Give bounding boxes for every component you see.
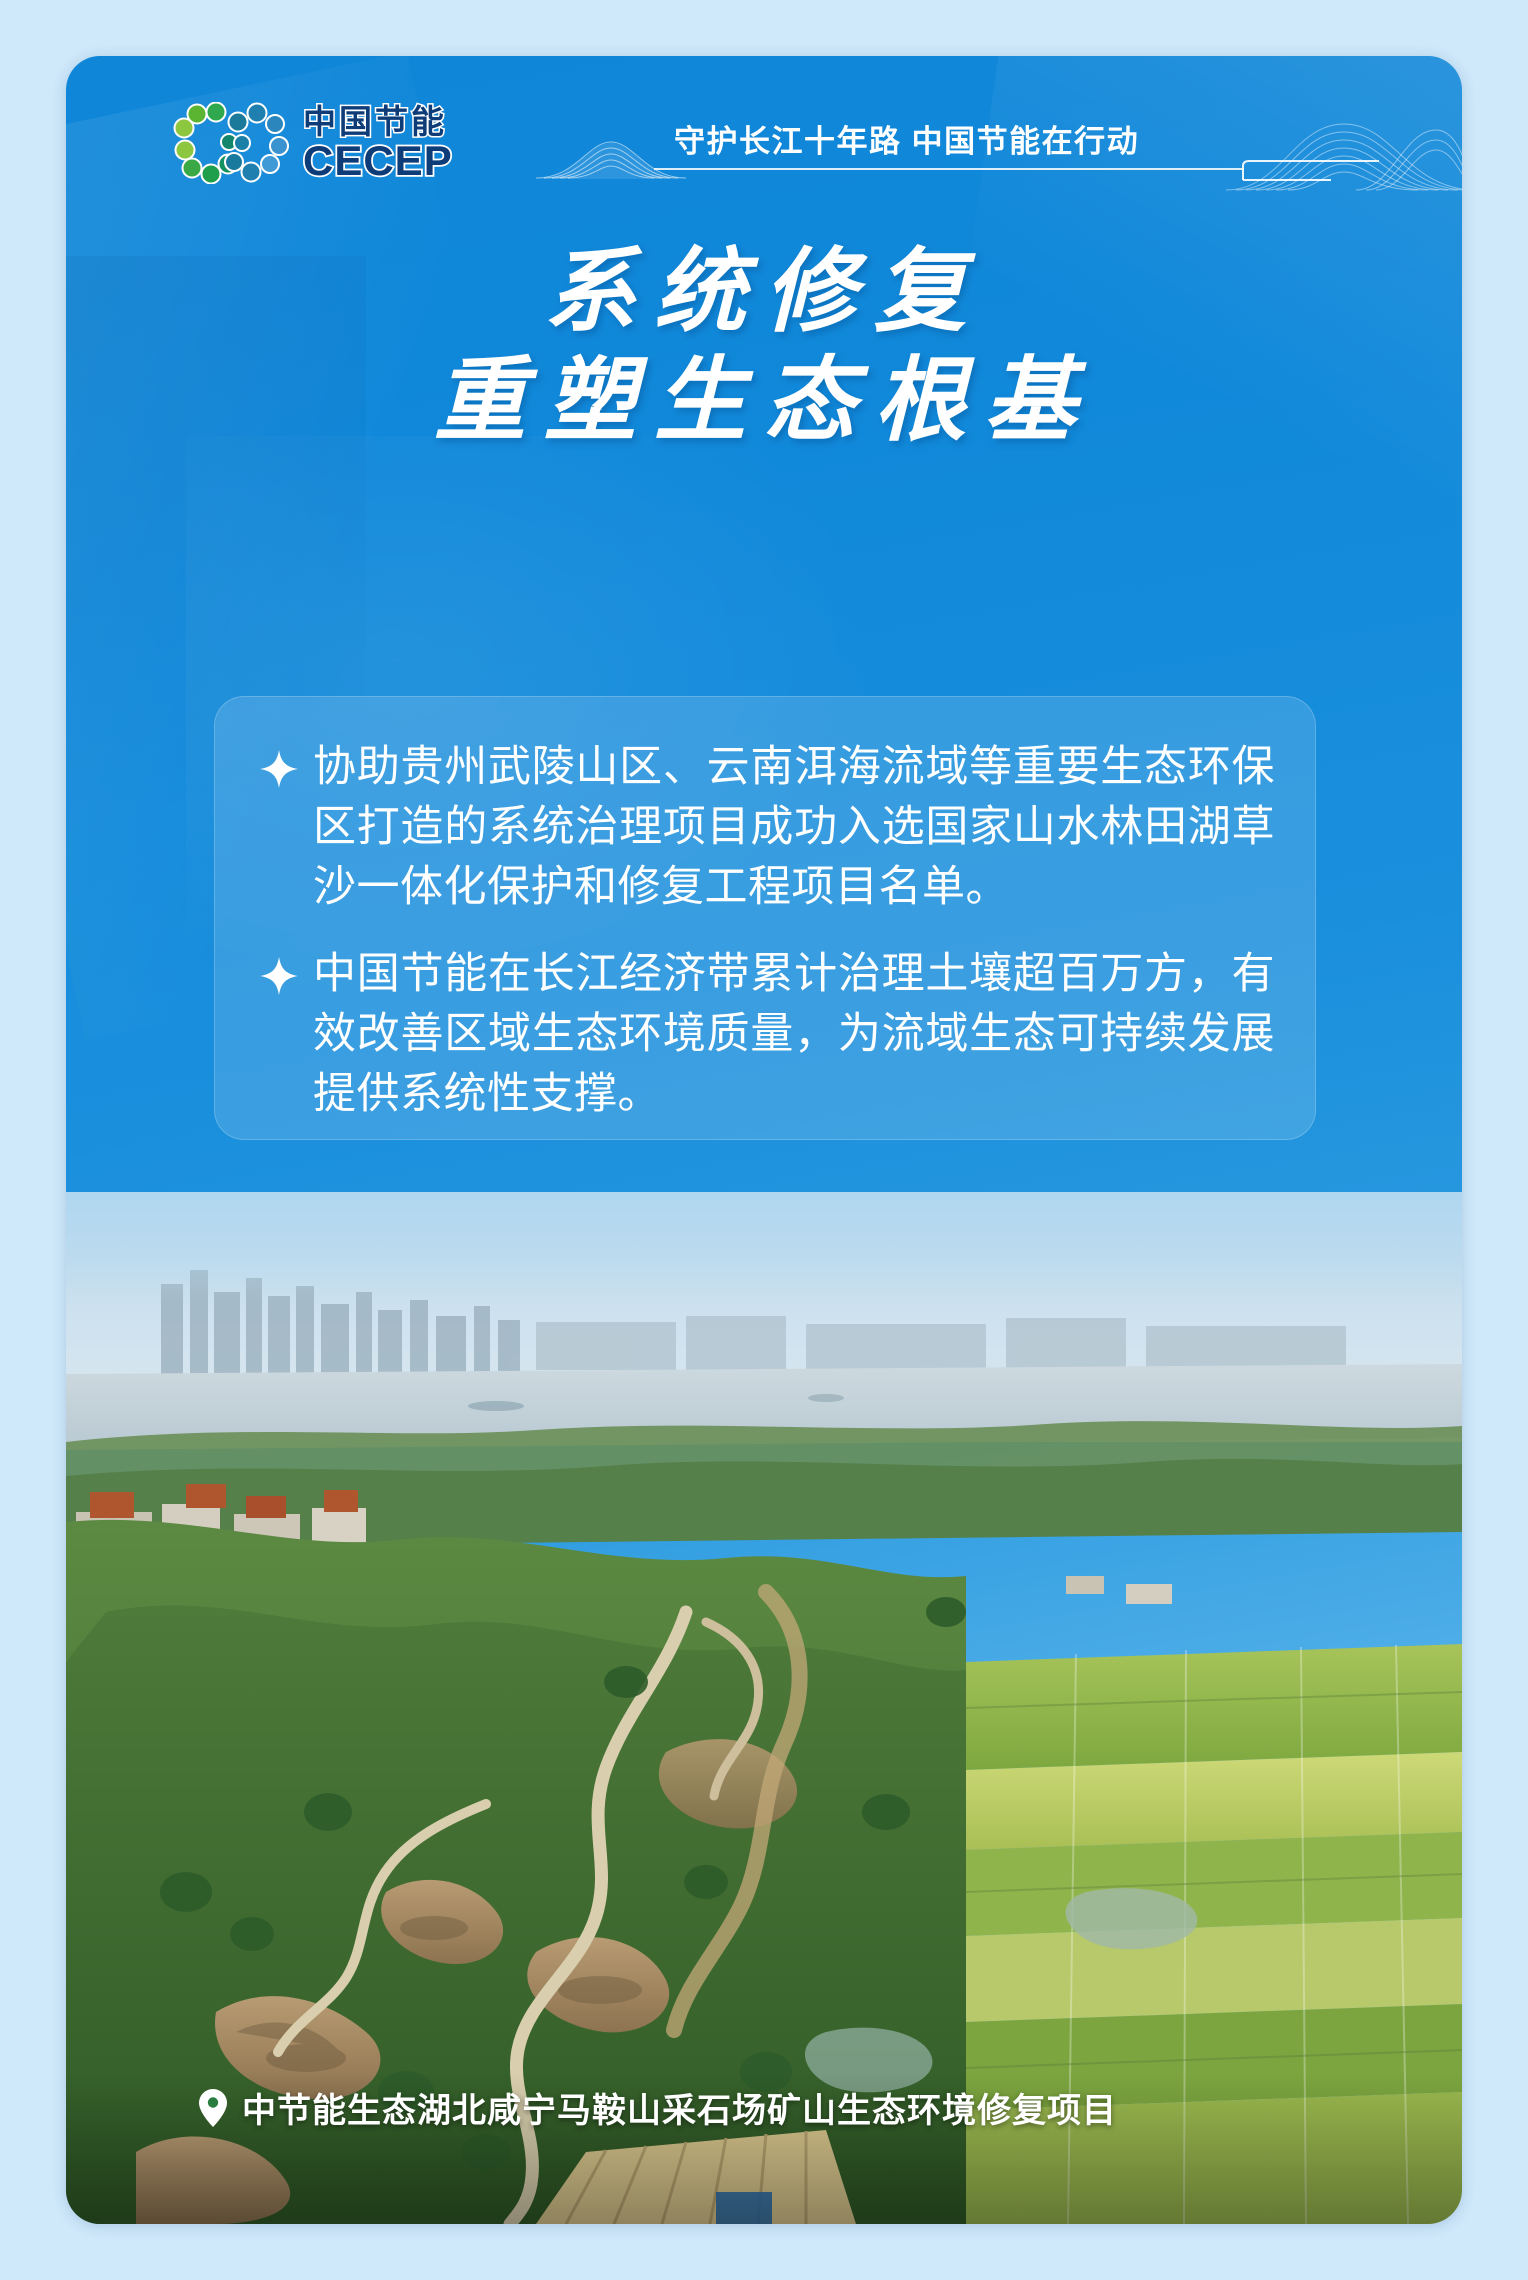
photo-caption-text: 中节能生态湖北咸宁马鞍山采石场矿山生态环境修复项目 [242,2083,1117,2132]
aerial-landscape-illustration [66,1192,1462,2224]
bullet-text: 中国节能在长江经济带累计治理土壤超百万方，有效改善区域生态环境质量，为流域生态可… [313,944,1275,1125]
photo-caption: 中节能生态湖北咸宁马鞍山采石场矿山生态环境修复项目 [198,2083,1117,2132]
project-photo [66,1192,1462,2224]
list-item: 中国节能在长江经济带累计治理土壤超百万方，有效改善区域生态环境质量，为流域生态可… [259,944,1275,1125]
poster-title-line1: 系统修复 [66,238,1462,347]
cecep-logo-type: 中国节能 CECEP [303,105,453,182]
mountain-wave-icon-left [536,136,686,180]
header-divider [654,168,1244,170]
photo-top-fade [66,1192,1462,1302]
cecep-infinity-dots-logo-icon [171,102,289,184]
cecep-logo: 中国节能 CECEP [171,102,453,184]
poster-card: 中国节能 CECEP 守护长江十年路 中国节能在行动 [66,56,1462,2224]
bullet-list: 协助贵州武陵山区、云南洱海流域等重要生态环保区打造的系统治理项目成功入选国家山水… [259,737,1275,1124]
poster-title: 系统修复 重塑生态根基 [66,238,1462,455]
list-item: 协助贵州武陵山区、云南洱海流域等重要生态环保区打造的系统治理项目成功入选国家山水… [259,737,1275,918]
content-card: 协助贵州武陵山区、云南洱海流域等重要生态环保区打造的系统治理项目成功入选国家山水… [214,696,1316,1140]
poster-title-line2: 重塑生态根基 [66,347,1462,456]
four-point-star-icon [259,749,299,789]
mountain-wave-icon-right [1226,120,1462,192]
cecep-logo-en: CECEP [303,140,453,182]
poster-header: 中国节能 CECEP 守护长江十年路 中国节能在行动 [66,102,1462,198]
four-point-star-icon [259,956,299,996]
location-pin-icon [198,2088,228,2128]
bullet-text: 协助贵州武陵山区、云南洱海流域等重要生态环保区打造的系统治理项目成功入选国家山水… [313,737,1275,918]
cecep-logo-cn: 中国节能 [303,105,453,138]
header-tagline: 守护长江十年路 中国节能在行动 [674,116,1139,161]
